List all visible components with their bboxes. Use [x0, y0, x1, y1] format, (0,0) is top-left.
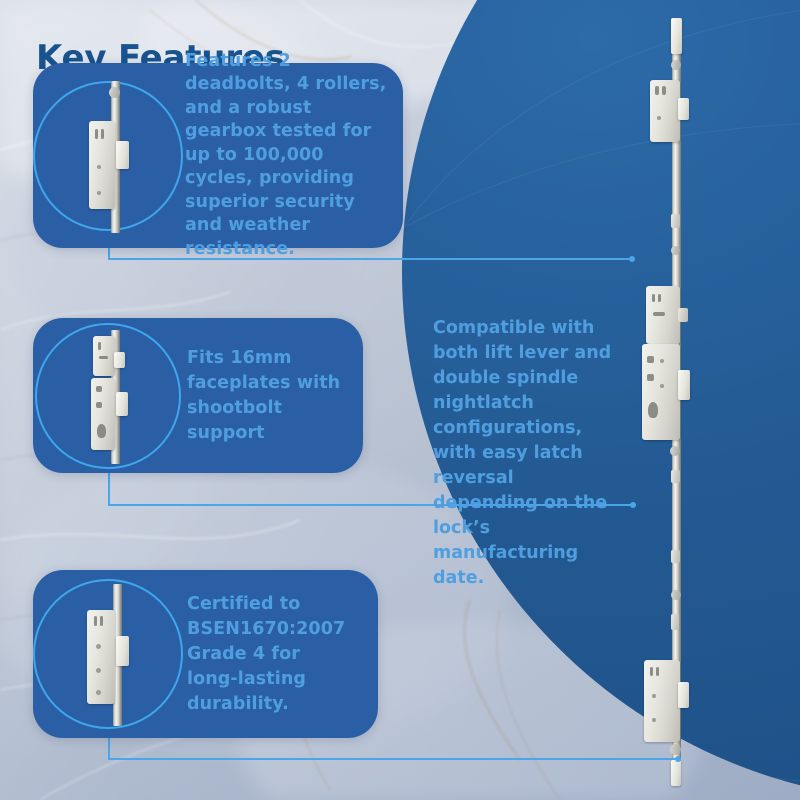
- lock-main-gearbox: [642, 344, 680, 440]
- lock-deadbolt-1: [116, 141, 129, 169]
- lock-roller-pin-1: [671, 246, 680, 255]
- lock-case-3-screw-1: [96, 644, 101, 649]
- feature-card-1-thumbnail: [33, 63, 183, 248]
- lock-centre-roller: [678, 308, 688, 322]
- lock-case-2-hole-a: [96, 386, 102, 392]
- lock-gearbox-follower-hole: [647, 374, 654, 381]
- lock-case-2-hole-b: [96, 402, 102, 408]
- lock-top-pin: [671, 60, 681, 70]
- lock-case-2-keyhole: [97, 424, 106, 438]
- lock-case-2-main: [91, 378, 115, 450]
- lock-roller-3: [671, 550, 680, 563]
- lock-case-1: [89, 121, 115, 209]
- lock-centre-lower-pin: [670, 446, 680, 456]
- lock-roller-2: [671, 470, 680, 483]
- lock-upper-case-screw: [657, 116, 661, 120]
- infographic-canvas: Key Features: [0, 0, 800, 800]
- lock-case-2-upper: [93, 336, 115, 376]
- lock-upper-deadbolt: [678, 98, 689, 120]
- lock-case-1-screw-2: [97, 191, 101, 195]
- lock-case-3-slot-a: [94, 616, 97, 626]
- feature-card-3[interactable]: Certified to BSEN1670:2007 Grade 4 for l…: [33, 570, 378, 738]
- feature-card-2-text: Fits 16mm faceplates with shootbolt supp…: [187, 346, 347, 446]
- lock-detail-image-1: [85, 81, 133, 233]
- lock-upper-case: [650, 80, 680, 142]
- lock-roller-pin-2: [671, 590, 681, 600]
- lock-centre-slot-a: [652, 294, 655, 302]
- connector-3-endpoint-dot: [675, 756, 681, 762]
- lock-case-1-slot-b: [101, 129, 104, 139]
- connector-2-endpoint-dot: [630, 502, 636, 508]
- lock-bottom-pin: [670, 744, 681, 755]
- lock-top-pin-1: [109, 87, 120, 98]
- feature-card-1-text: Features 2 deadbolts, 4 rollers, and a r…: [185, 50, 393, 262]
- feature-card-1[interactable]: Features 2 deadbolts, 4 rollers, and a r…: [33, 63, 403, 248]
- lock-cylinder-keyhole: [648, 402, 658, 418]
- lock-upper-case-slot-a: [655, 86, 659, 95]
- lock-lower-slot-b: [656, 667, 659, 676]
- connector-1-endpoint-dot: [629, 256, 635, 262]
- full-length-lock-strip: [668, 18, 708, 786]
- lock-lower-deadbolt: [678, 682, 689, 708]
- lock-gearbox-spindle-hole: [647, 356, 654, 363]
- lock-lower-slot-a: [650, 667, 653, 676]
- connector-3-horizontal: [108, 758, 678, 760]
- lock-case-2-slot-b: [99, 356, 108, 359]
- lock-deadbolt-2: [116, 392, 128, 416]
- lock-bottom-tip: [671, 760, 681, 786]
- lock-detail-image-3: [83, 584, 135, 726]
- lock-roller-1: [671, 214, 680, 228]
- lock-case-1-slot-a: [95, 129, 98, 139]
- lock-centre-slot-b: [658, 294, 661, 302]
- lock-upper-case-slot-b: [662, 86, 666, 95]
- lock-case-3-slot-b: [100, 616, 103, 626]
- lock-centre-slot-c: [653, 312, 665, 316]
- lock-gearbox-screw-2: [660, 384, 664, 388]
- right-panel-text: Compatible with both lift lever and doub…: [433, 316, 615, 591]
- feature-card-3-text: Certified to BSEN1670:2007 Grade 4 for l…: [187, 592, 355, 717]
- lock-roller-2a: [114, 352, 125, 368]
- lock-centre-deadbolt: [678, 370, 690, 400]
- lock-gearbox-screw-1: [660, 359, 664, 363]
- lock-case-1-screw: [97, 165, 101, 169]
- lock-roller-4: [671, 614, 679, 630]
- lock-case-3-screw-3: [96, 690, 101, 695]
- feature-card-3-thumbnail: [33, 570, 183, 738]
- lock-deadbolt-3: [116, 636, 129, 666]
- lock-case-2-slot-a: [98, 342, 101, 350]
- lock-centre-upper-case: [646, 286, 680, 344]
- lock-case-3-screw-2: [96, 668, 101, 673]
- lock-case-3: [87, 610, 115, 704]
- feature-card-2[interactable]: Fits 16mm faceplates with shootbolt supp…: [33, 318, 363, 473]
- lock-detail-image-2: [87, 330, 135, 464]
- lock-top-tip: [671, 18, 682, 54]
- feature-card-2-thumbnail: [33, 318, 183, 473]
